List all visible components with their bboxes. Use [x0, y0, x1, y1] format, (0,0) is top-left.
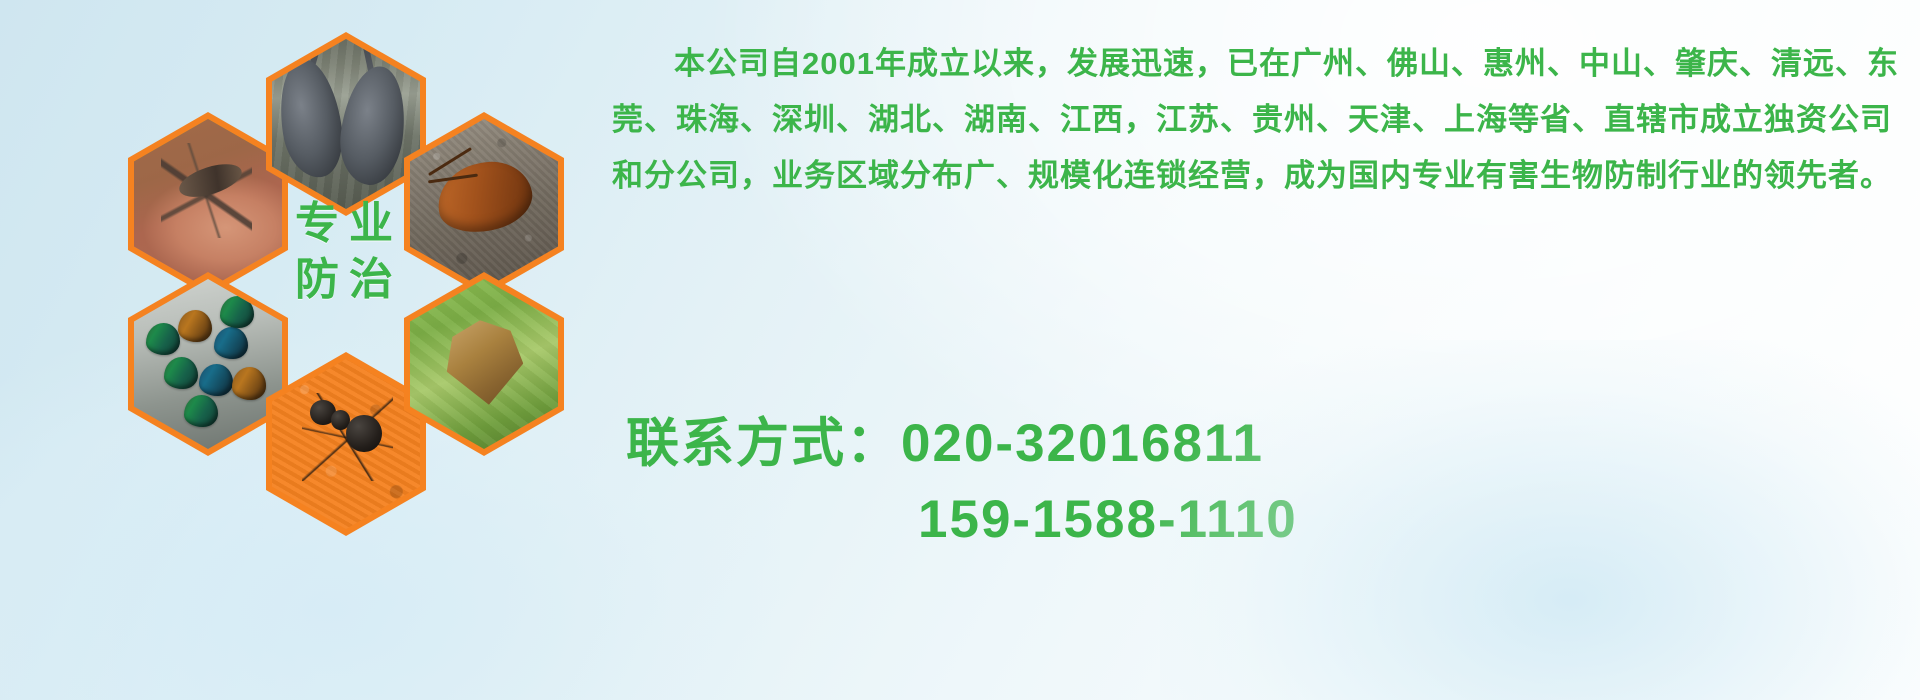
honeycomb-label-line1: 专业: [264, 196, 424, 252]
hex-cell-cockroach[interactable]: [404, 112, 564, 296]
contact-block: 联系方式：020-32016811 159-1588-1110: [626, 406, 1876, 558]
hex-image-flies: [134, 279, 282, 449]
honeycomb-cluster: 专业 防治: [88, 0, 608, 560]
banner-root: 专业 防治 本公司自2001年成立以来，发展迅速，已在广州、佛山、惠州、中山、肇…: [0, 0, 1920, 700]
hex-image-stinkbug: [410, 279, 558, 449]
intro-paragraph: 本公司自2001年成立以来，发展迅速，已在广州、佛山、惠州、中山、肇庆、清远、东…: [612, 36, 1912, 204]
hex-image-rats: [272, 39, 420, 209]
hex-cell-rats[interactable]: [266, 32, 426, 216]
contact-line-mobile[interactable]: 159-1588-1110: [626, 482, 1876, 558]
contact-line-landline[interactable]: 联系方式：020-32016811: [626, 406, 1876, 482]
hex-image-ant: [272, 359, 420, 529]
copy-column: 本公司自2001年成立以来，发展迅速，已在广州、佛山、惠州、中山、肇庆、清远、东…: [612, 36, 1912, 204]
honeycomb-label: 专业 防治: [264, 196, 424, 309]
hex-image-mosquito: [134, 119, 282, 289]
honeycomb-label-line2: 防治: [264, 252, 424, 308]
hex-cell-ant[interactable]: [266, 352, 426, 536]
hex-image-cockroach: [410, 119, 558, 289]
hex-cell-stinkbug[interactable]: [404, 272, 564, 456]
